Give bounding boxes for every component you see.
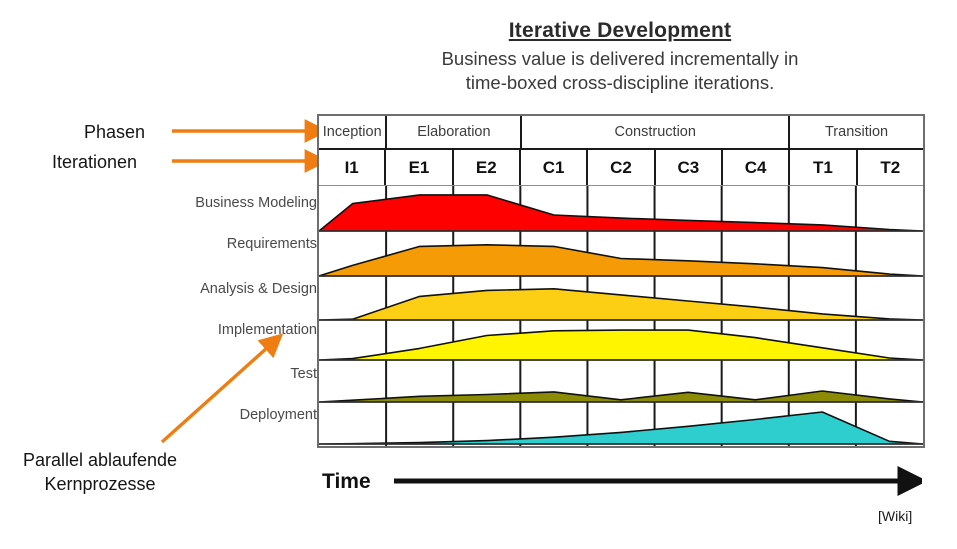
iteration-cell-i1[interactable]: I1: [319, 150, 386, 185]
iteration-cell-label: T2: [880, 158, 900, 178]
iteration-cell-t1[interactable]: T1: [790, 150, 857, 185]
discipline-label-test: Test: [17, 366, 317, 382]
iteration-cell-label: E1: [409, 158, 430, 178]
phase-cell-label: Construction: [615, 124, 696, 140]
phase-cell-inception[interactable]: Inception: [319, 116, 387, 148]
subtitle-line-1: Business value is delivered incrementall…: [442, 48, 799, 69]
source-caption: [Wiki]: [878, 508, 912, 524]
subtitle-line-2: time-boxed cross-discipline iterations.: [466, 72, 774, 93]
discipline-label-implementation: Implementation: [17, 322, 317, 338]
discipline-label-analysis-design: Analysis & Design: [17, 281, 317, 297]
phase-cell-label: Transition: [825, 124, 888, 140]
discipline-label-business-modeling: Business Modeling: [17, 195, 317, 211]
iteration-cell-label: E2: [476, 158, 497, 178]
callout-label-iterations: Iterationen: [52, 152, 137, 173]
iteration-cell-c3[interactable]: C3: [656, 150, 723, 185]
phase-cell-construction[interactable]: Construction: [522, 116, 790, 148]
phase-cell-label: Inception: [323, 124, 382, 140]
page-title: Iterative Development: [360, 18, 880, 44]
time-axis: Time: [322, 466, 922, 500]
discipline-curves: [319, 186, 923, 446]
chart-frame: InceptionElaborationConstructionTransiti…: [317, 114, 925, 448]
iteration-cell-label: I1: [345, 158, 359, 178]
iteration-cell-e2[interactable]: E2: [454, 150, 521, 185]
area-test[interactable]: [319, 391, 923, 402]
iteration-cell-c4[interactable]: C4: [723, 150, 790, 185]
title-block: Iterative Development Business value is …: [360, 18, 880, 95]
discipline-label-deployment: Deployment: [17, 407, 317, 423]
time-axis-label: Time: [322, 470, 371, 494]
plot-area: [319, 186, 923, 446]
iteration-cell-label: T1: [813, 158, 833, 178]
iteration-cell-label: C4: [745, 158, 767, 178]
time-arrow-icon: [322, 466, 922, 500]
phase-cell-label: Elaboration: [417, 124, 490, 140]
iteration-cell-t2[interactable]: T2: [858, 150, 923, 185]
callout-label-phases: Phasen: [84, 122, 145, 143]
callout-label-core-processes: Parallel ablaufende Kernprozesse: [4, 448, 196, 496]
discipline-label-requirements: Requirements: [17, 236, 317, 252]
iteration-cell-c2[interactable]: C2: [588, 150, 655, 185]
phase-cell-transition[interactable]: Transition: [790, 116, 923, 148]
iteration-cell-e1[interactable]: E1: [386, 150, 453, 185]
area-analysis-design[interactable]: [319, 289, 923, 320]
iteration-cell-label: C2: [610, 158, 632, 178]
area-business-modeling[interactable]: [319, 195, 923, 231]
area-implementation[interactable]: [319, 330, 923, 360]
page-subtitle: Business value is delivered incrementall…: [360, 47, 880, 95]
iteration-header-row: I1E1E2C1C2C3C4T1T2: [319, 150, 923, 186]
area-deployment[interactable]: [319, 412, 923, 444]
area-requirements[interactable]: [319, 245, 923, 276]
iteration-cell-label: C3: [677, 158, 699, 178]
iteration-cell-label: C1: [543, 158, 565, 178]
arrow-core-processes: [162, 347, 268, 442]
iteration-cell-c1[interactable]: C1: [521, 150, 588, 185]
phase-header-row: InceptionElaborationConstructionTransiti…: [319, 116, 923, 150]
phase-cell-elaboration[interactable]: Elaboration: [387, 116, 522, 148]
